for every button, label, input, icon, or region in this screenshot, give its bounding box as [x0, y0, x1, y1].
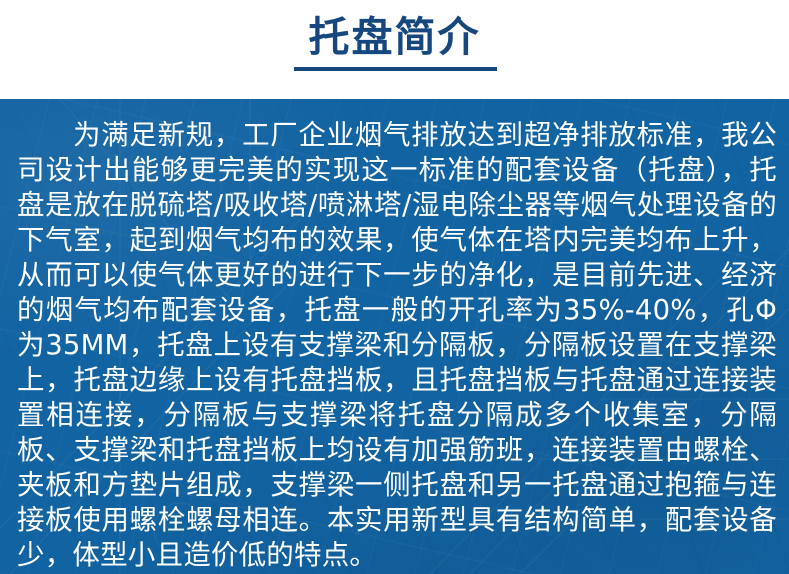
title-header: 托盘简介: [0, 0, 789, 99]
product-description-page: 托盘简介: [0, 0, 789, 574]
description-panel: 为满足新规，工厂企业烟气排放达到超净排放标准，我公司设计出能够更完美的实现这一标…: [0, 99, 789, 574]
title-underline-rule: [294, 67, 497, 71]
page-title: 托盘简介: [0, 14, 789, 60]
description-body-text: 为满足新规，工厂企业烟气排放达到超净排放标准，我公司设计出能够更完美的实现这一标…: [17, 118, 777, 573]
